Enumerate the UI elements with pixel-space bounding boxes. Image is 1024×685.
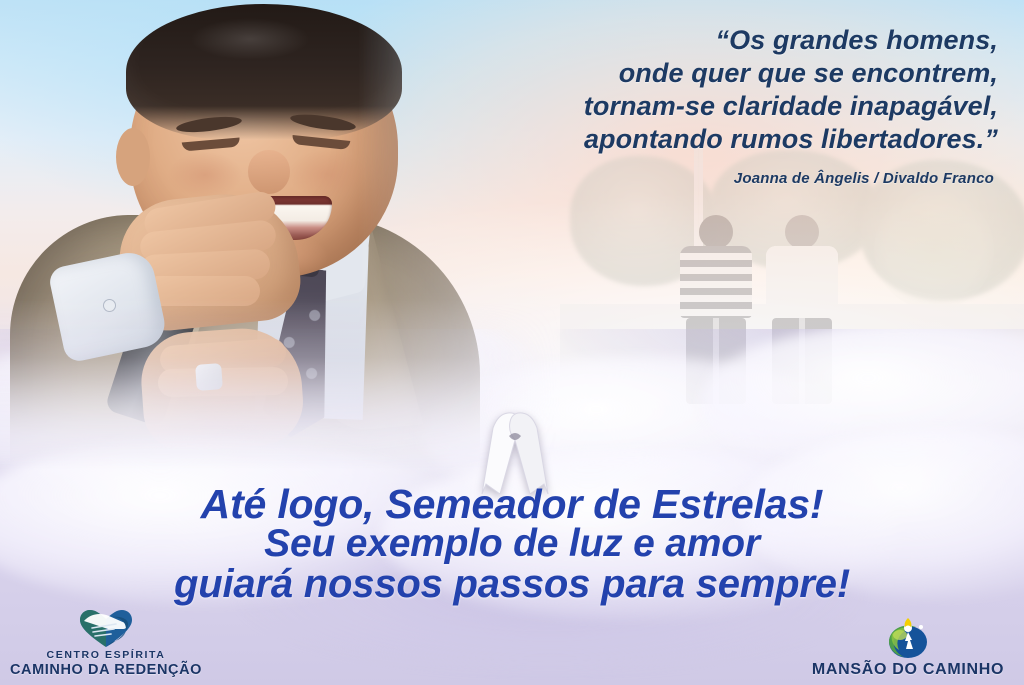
cheek-right xyxy=(288,150,366,198)
quote-line-4: apontando rumos libertadores.” xyxy=(378,123,998,156)
ring xyxy=(195,363,223,391)
nose xyxy=(248,150,290,194)
quote-line-1: “Os grandes homens, xyxy=(378,24,998,57)
logo-mansao-do-caminho: MANSÃO DO CAMINHO xyxy=(798,618,1018,679)
headline-block: Até logo, Semeador de Estrelas! Seu exem… xyxy=(0,484,1024,604)
heart-hands-icon xyxy=(6,607,206,649)
globe-figure-icon xyxy=(798,618,1018,660)
headline-line-1: Até logo, Semeador de Estrelas! xyxy=(0,484,1024,524)
quote-attribution: Joanna de Ângelis / Divaldo Franco xyxy=(374,170,994,187)
ear xyxy=(116,128,150,186)
quote-line-3: tornam-se claridade inapagável, xyxy=(378,90,998,123)
logo-left-line-2: CAMINHO DA REDENÇÃO xyxy=(6,662,206,679)
hair-highlight xyxy=(190,18,310,60)
cheek-left xyxy=(168,152,242,198)
quote-block: “Os grandes homens, onde quer que se enc… xyxy=(378,24,998,156)
logo-right-line-1: MANSÃO DO CAMINHO xyxy=(798,660,1018,679)
tribute-poster: “Os grandes homens, onde quer que se enc… xyxy=(0,0,1024,685)
cuff-button xyxy=(104,300,115,311)
quote-line-2: onde quer que se encontrem, xyxy=(378,57,998,90)
headline-line-2: Seu exemplo de luz e amor xyxy=(0,524,1024,564)
logo-centro-espirita: CENTRO ESPÍRITA CAMINHO DA REDENÇÃO xyxy=(6,607,206,679)
logo-left-line-1: CENTRO ESPÍRITA xyxy=(6,649,206,662)
headline-line-3: guiará nossos passos para sempre! xyxy=(0,564,1024,604)
